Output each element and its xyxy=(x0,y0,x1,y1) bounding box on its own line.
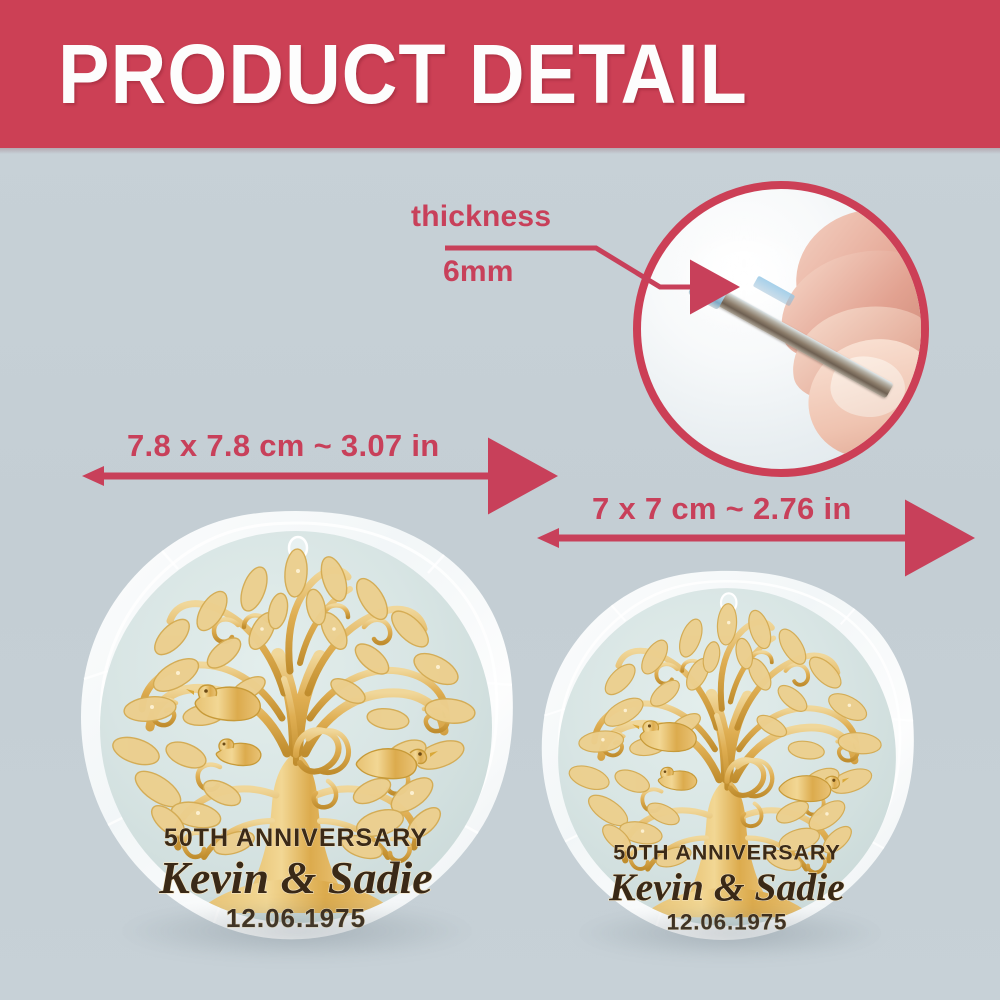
anniversary-heading: 50TH ANNIVERSARY xyxy=(164,824,428,852)
ornament-shadow xyxy=(112,901,482,961)
product-detail-image: PRODUCT DETAIL thickness 6mm 7.8 x 7.8 c… xyxy=(0,0,1000,1000)
anniversary-heading: 50TH ANNIVERSARY xyxy=(613,841,841,865)
ornament-shadow xyxy=(570,906,890,960)
large-ornament-artwork: 50TH ANNIVERSARY Kevin & Sadie 12.06.197… xyxy=(72,503,520,951)
large-ornament[interactable]: 50TH ANNIVERSARY Kevin & Sadie 12.06.197… xyxy=(72,503,520,951)
large-dimension-arrow xyxy=(82,466,495,486)
thickness-leader-line xyxy=(445,248,695,287)
couple-names: Kevin & Sadie xyxy=(608,865,845,909)
small-ornament[interactable]: 50TH ANNIVERSARY Kevin & Sadie 12.06.197… xyxy=(534,564,920,950)
small-ornament-artwork: 50TH ANNIVERSARY Kevin & Sadie 12.06.197… xyxy=(534,564,920,950)
small-dimension-arrow xyxy=(537,528,912,548)
couple-names: Kevin & Sadie xyxy=(158,852,432,903)
